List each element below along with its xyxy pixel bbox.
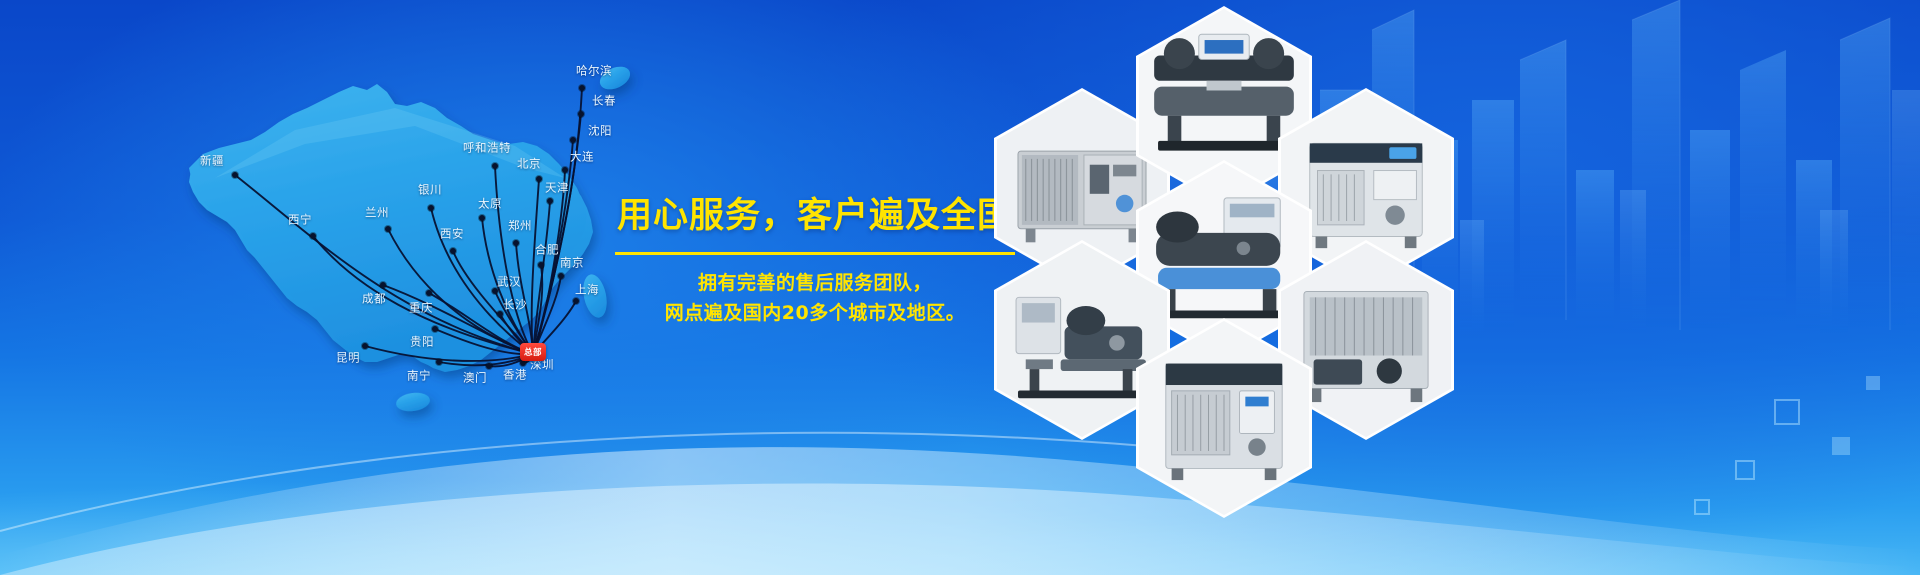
headquarters-marker: 总部: [518, 340, 548, 364]
decor-square-2: [1832, 437, 1850, 455]
city-dot: [450, 248, 456, 254]
city-dot: [232, 172, 238, 178]
city-dot: [538, 262, 544, 268]
city-dot: [562, 167, 568, 173]
city-dot: [426, 290, 432, 296]
subtitle-line-2: 网点遍及国内20多个城市及地区。: [615, 299, 1015, 328]
city-dot: [547, 198, 553, 204]
city-dot: [578, 111, 584, 117]
decor-square-5: [1694, 499, 1710, 515]
city-dot: [432, 326, 438, 332]
city-dot: [570, 137, 576, 143]
promo-copy: 用心服务，客户遍及全国 拥有完善的售后服务团队， 网点遍及国内20多个城市及地区…: [615, 196, 1015, 328]
city-dot: [573, 298, 579, 304]
city-dot: [380, 282, 386, 288]
divider-rule: [615, 252, 1015, 255]
city-dot: [579, 85, 585, 91]
city-dot: [385, 226, 391, 232]
subtitle-line-1: 拥有完善的售后服务团队，: [615, 269, 1015, 298]
city-dot: [428, 205, 434, 211]
decor-square-4: [1866, 376, 1880, 390]
headquarters-pin-label: 总部: [520, 343, 546, 361]
city-dot: [479, 215, 485, 221]
promo-banner: 哈尔滨 长春 沈阳 大连 呼和浩特 北京 天津 新疆 银川 太原 兰州 西宁 郑…: [0, 0, 1920, 575]
city-dot: [486, 363, 492, 369]
city-dot: [492, 163, 498, 169]
city-dot: [310, 233, 316, 239]
decor-square-1: [1774, 399, 1800, 425]
city-dot: [497, 311, 503, 317]
product-hex-grid: [970, 0, 1530, 575]
city-dot: [558, 273, 564, 279]
city-dot: [492, 288, 498, 294]
city-dot: [362, 343, 368, 349]
city-dot: [513, 240, 519, 246]
city-dot: [536, 176, 542, 182]
china-service-map: 哈尔滨 长春 沈阳 大连 呼和浩特 北京 天津 新疆 银川 太原 兰州 西宁 郑…: [95, 18, 655, 448]
headline: 用心服务，客户遍及全国: [615, 196, 1015, 236]
city-dot: [436, 359, 442, 365]
decor-square-3: [1735, 460, 1755, 480]
